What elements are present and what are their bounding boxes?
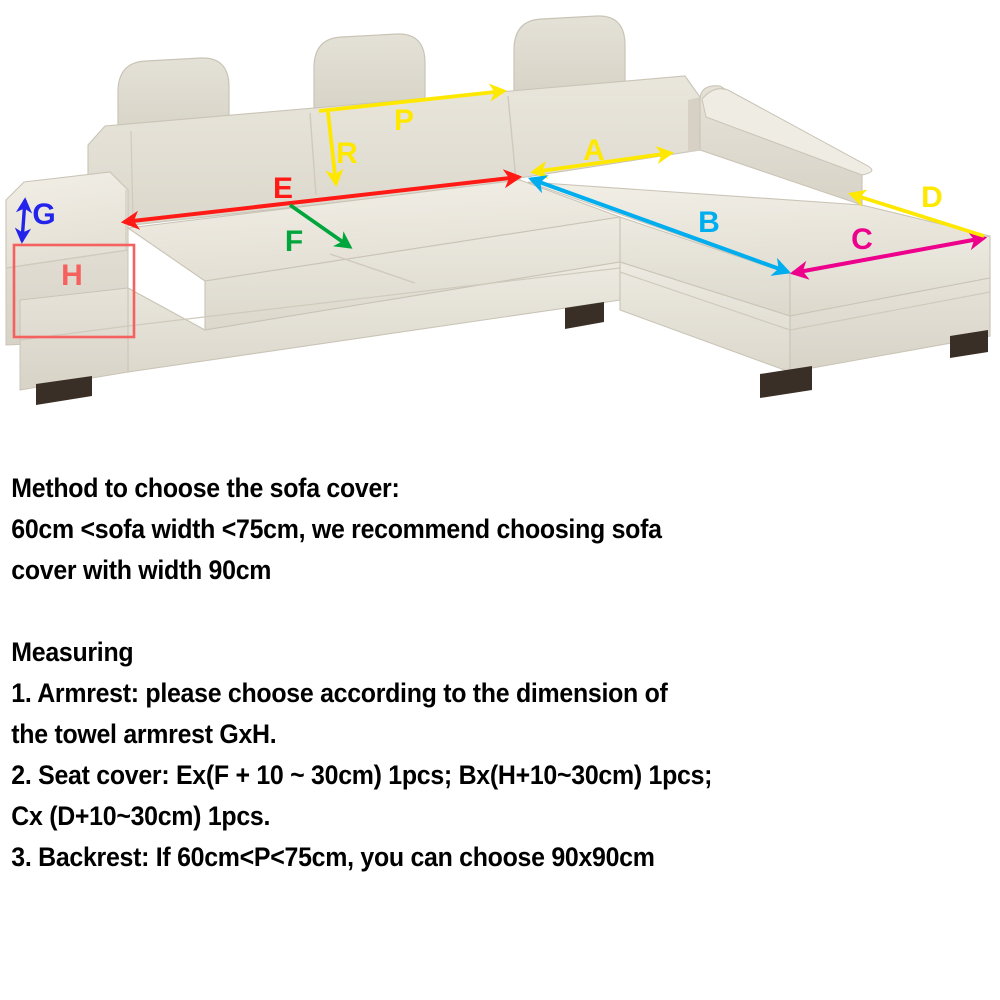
sofa-illustration: P R A D E H G F B C [0, 0, 1000, 470]
chaise-back-edge [688, 97, 700, 152]
main-base-side [20, 288, 128, 390]
instruction-line-armrest-1: 1. Armrest: please choose according to t… [0, 673, 940, 714]
instruction-line-blank [0, 591, 940, 632]
instruction-line-2: 60cm <sofa width <75cm, we recommend cho… [0, 509, 940, 550]
sofa-cover-guide-page: P R A D E H G F B C Method to choose the… [0, 0, 1000, 1000]
label-C: C [851, 223, 873, 256]
instruction-line-armrest-2: the towel armrest GxH. [0, 714, 940, 755]
label-F: F [285, 225, 303, 258]
instruction-line-backrest: 3. Backrest: If 60cm<P<75cm, you can cho… [0, 837, 940, 878]
label-B: B [698, 206, 720, 239]
sofa-diagram: P R A D E H G F B C [0, 0, 1000, 470]
label-A: A [583, 134, 605, 167]
label-H: H [61, 259, 83, 292]
instruction-line-1: Method to choose the sofa cover: [0, 468, 940, 509]
instruction-line-3: cover with width 90cm [0, 550, 940, 591]
instructions-block: Method to choose the sofa cover: 60cm <s… [0, 468, 1000, 1000]
label-P: P [394, 104, 414, 137]
instruction-heading-measuring: Measuring [0, 632, 940, 673]
instruction-line-seatcover-1: 2. Seat cover: Ex(F + 10 ~ 30cm) 1pcs; B… [0, 755, 940, 796]
instruction-line-seatcover-2: Cx (D+10~30cm) 1pcs. [0, 796, 940, 837]
label-R: R [336, 137, 358, 170]
instruction-lines: Method to choose the sofa cover: 60cm <s… [0, 468, 1000, 878]
label-E: E [273, 172, 293, 205]
label-G: G [32, 198, 55, 231]
label-D: D [921, 181, 943, 214]
